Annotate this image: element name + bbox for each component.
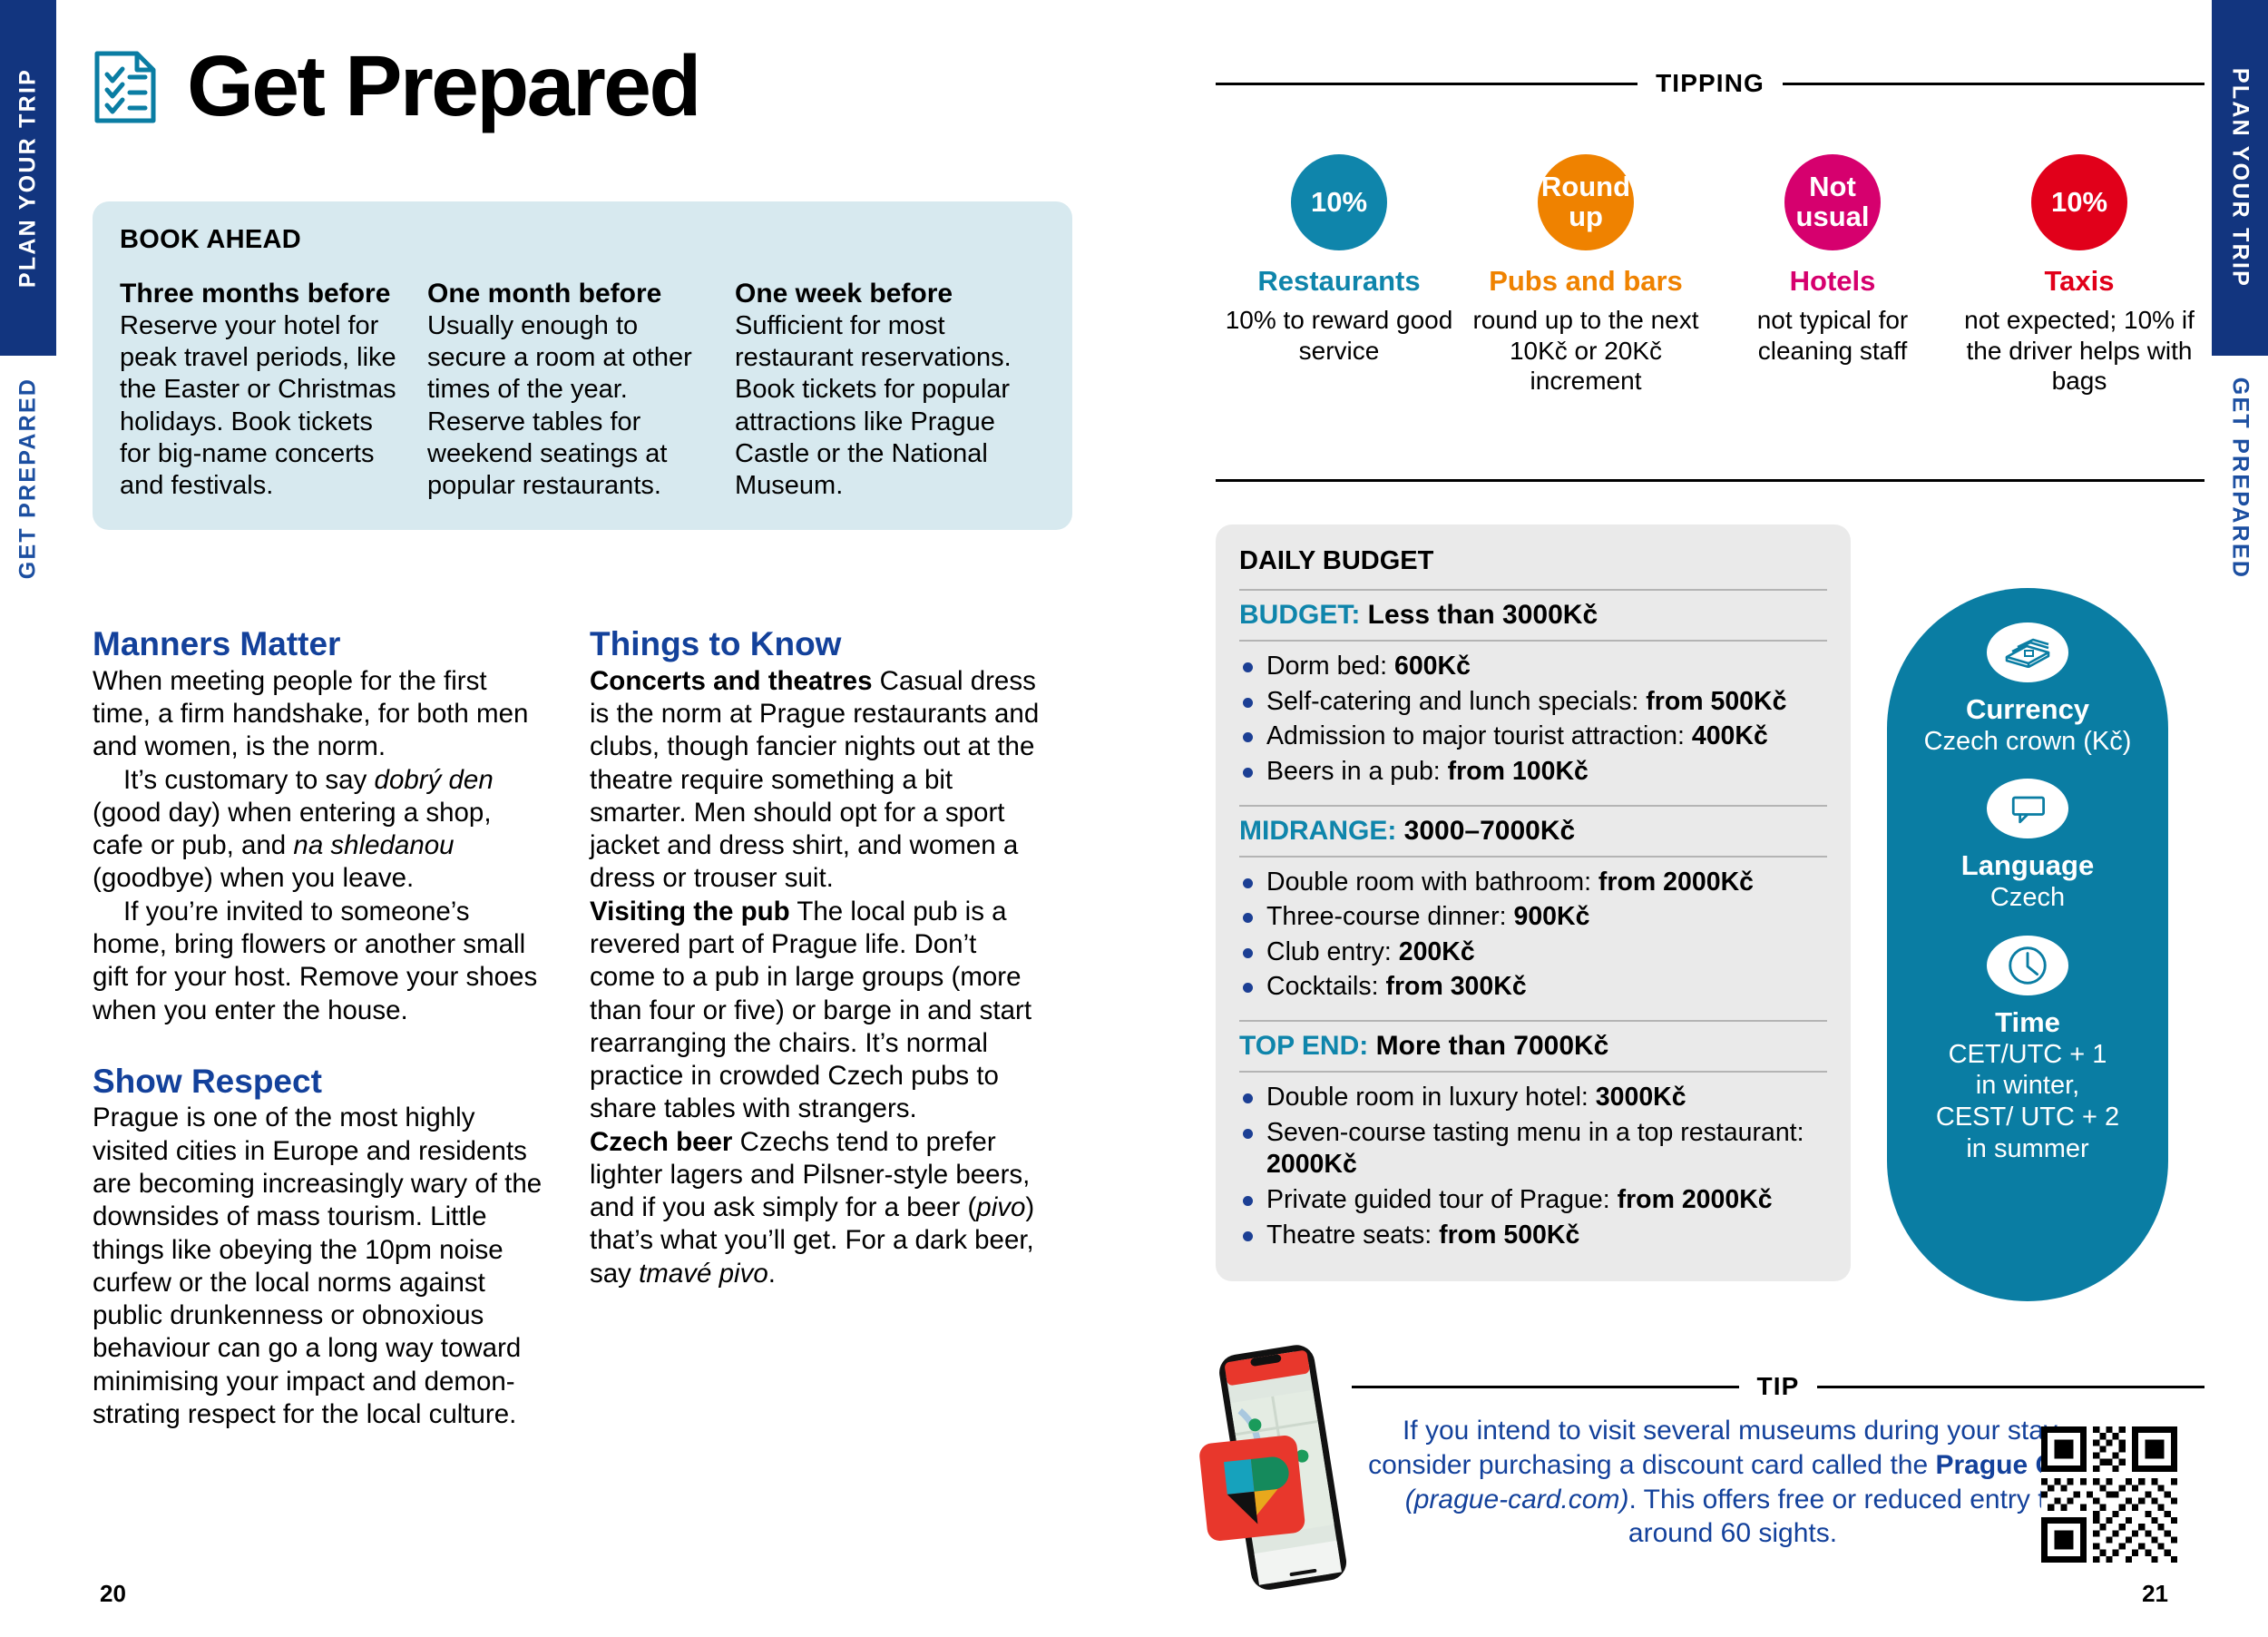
info-heading-time: Time — [1887, 1006, 2168, 1039]
budget-list-item: Cocktails: from 300Kč — [1239, 971, 1827, 1004]
book-ahead-column-body: Usually enough to secure a room at other… — [427, 310, 704, 503]
book-ahead-heading: BOOK AHEAD — [120, 225, 1045, 255]
page-number-left: 20 — [100, 1580, 126, 1608]
rule-line-left — [1352, 1386, 1739, 1388]
tipping-item-pubs-and-bars: Round up Pubs and bars round up to the n… — [1462, 154, 1709, 397]
divider — [1239, 805, 1827, 807]
qr-code[interactable] — [2041, 1426, 2177, 1563]
book-ahead-column: One week before Sufficient for most rest… — [735, 279, 1012, 503]
tab-get-prepared-right-label: GET PREPARED — [2227, 377, 2253, 579]
tipping-item-name: Hotels — [1709, 265, 1956, 298]
speech-bubble-icon — [1987, 779, 2068, 838]
divider — [1239, 1071, 1827, 1073]
respect-paragraph: Prague is one of the most highly visited… — [93, 1102, 546, 1431]
divider — [1239, 589, 1827, 591]
tipping-item-name: Taxis — [1956, 265, 2203, 298]
column-things-to-know: Things to Know Concerts and theatres Cas… — [590, 626, 1043, 1431]
book-ahead-box: BOOK AHEAD Three months before Reserve y… — [93, 201, 1072, 530]
tab-plan-your-trip-left[interactable]: PLAN YOUR TRIP — [0, 0, 56, 356]
right-page: TIPPING 10% Restaurants 10% to reward go… — [1134, 0, 2212, 1637]
divider — [1239, 1020, 1827, 1022]
budget-list-item: Three-course dinner: 900Kč — [1239, 901, 1827, 934]
tipping-item-restaurants: 10% Restaurants 10% to reward good servi… — [1216, 154, 1462, 397]
daily-budget-heading: DAILY BUDGET — [1239, 546, 1827, 576]
info-heading-language: Language — [1887, 849, 2168, 882]
country-info-pill: Currency Czech crown (Kč) Language Czech… — [1887, 588, 2168, 1301]
info-value-language: Czech — [1887, 882, 2168, 914]
tipping-item-desc: not typical for cleaning staff — [1709, 305, 1956, 366]
tipping-section-header: TIPPING — [1216, 69, 2204, 98]
tab-get-prepared-right[interactable]: GET PREPARED — [2212, 356, 2268, 601]
tipping-item-desc: 10% to reward good service — [1216, 305, 1462, 366]
budget-list-item: Theatre seats: from 500Kč — [1239, 1220, 1827, 1252]
column-manners: Manners Matter When meeting people for t… — [93, 626, 546, 1431]
book-ahead-column: One month before Usually enough to secur… — [427, 279, 704, 503]
things-to-know-item: Concerts and theatres Casual dress is th… — [590, 665, 1043, 896]
book-ahead-column-heading: Three months before — [120, 279, 396, 310]
manners-paragraph-2: It’s customary to say dobrý den (good da… — [93, 764, 546, 896]
budget-tier-list: Double room in luxury hotel: 3000Kč Seve… — [1239, 1082, 1827, 1251]
tipping-item-name: Restaurants — [1216, 265, 1462, 298]
left-page: Get Prepared BOOK AHEAD Three months bef… — [56, 0, 1134, 1637]
info-heading-currency: Currency — [1887, 693, 2168, 726]
tip-section-label: TIP — [1739, 1372, 1818, 1401]
tab-plan-your-trip-right[interactable]: PLAN YOUR TRIP — [2212, 0, 2268, 356]
tipping-section-divider — [1216, 479, 2204, 482]
rule-line-left — [1216, 83, 1637, 85]
divider — [1239, 640, 1827, 642]
page-header: Get Prepared — [93, 44, 699, 130]
budget-list-item: Double room in luxury hotel: 3000Kč — [1239, 1082, 1827, 1114]
clock-icon — [1987, 936, 2068, 995]
article-body: Manners Matter When meeting people for t… — [93, 626, 1081, 1431]
book-ahead-column-body: Sufficient for most restaurant reservati… — [735, 310, 1012, 503]
tipping-item-name: Pubs and bars — [1462, 265, 1709, 298]
budget-list-item: Double room with bathroom: from 2000Kč — [1239, 867, 1827, 899]
info-value-time: CET/UTC + 1 in winter, CEST/ UTC + 2 in … — [1887, 1039, 2168, 1165]
tab-get-prepared-left-label: GET PREPARED — [15, 377, 42, 579]
budget-tier-heading: BUDGET: Less than 3000Kč — [1239, 600, 1827, 631]
book-ahead-column-heading: One month before — [427, 279, 704, 310]
page-number-right: 21 — [2142, 1580, 2168, 1608]
book-ahead-column: Three months before Reserve your hotel f… — [120, 279, 396, 503]
things-to-know-item: Visiting the pub The local pub is a reve… — [590, 896, 1043, 1126]
book-ahead-column-heading: One week before — [735, 279, 1012, 310]
checklist-document-icon — [93, 49, 158, 125]
section-heading-manners: Manners Matter — [93, 626, 546, 663]
tipping-badge: 10% — [1291, 154, 1387, 250]
tab-plan-your-trip-left-label: PLAN YOUR TRIP — [15, 68, 42, 288]
budget-tier-list: Double room with bathroom: from 2000Kč T… — [1239, 867, 1827, 1005]
daily-budget-box: DAILY BUDGET BUDGET: Less than 3000Kč Do… — [1216, 524, 1851, 1281]
tipping-section-label: TIPPING — [1637, 69, 1783, 98]
section-heading-things-to-know: Things to Know — [590, 626, 1043, 663]
budget-list-item: Dorm bed: 600Kč — [1239, 651, 1827, 683]
budget-list-item: Seven-course tasting menu in a top resta… — [1239, 1117, 1827, 1181]
guidebook-spread: PLAN YOUR TRIP GET PREPARED PLAN YOUR TR… — [0, 0, 2268, 1637]
manners-paragraph-3: If you’re invited to someone’s home, bri… — [93, 896, 546, 1027]
rule-line-right — [1817, 1386, 2204, 1388]
tipping-item-hotels: Not usual Hotels not typical for cleanin… — [1709, 154, 1956, 397]
tipping-item-desc: round up to the next 10Kč or 20Kč increm… — [1462, 305, 1709, 397]
book-ahead-column-body: Reserve your hotel for peak travel perio… — [120, 310, 396, 503]
info-value-currency: Czech crown (Kč) — [1887, 726, 2168, 758]
budget-list-item: Admission to major tourist attraction: 4… — [1239, 720, 1827, 753]
tip-text: If you intend to visit several museums d… — [1361, 1414, 2105, 1551]
tip-section-header: TIP — [1352, 1372, 2204, 1401]
budget-list-item: Self-catering and lunch specials: from 5… — [1239, 686, 1827, 719]
tipping-badge: Not usual — [1784, 154, 1881, 250]
tipping-badge: 10% — [2031, 154, 2127, 250]
phone-app-illustration — [1198, 1341, 1370, 1604]
tipping-item-desc: not expected; 10% if the driver helps wi… — [1956, 305, 2203, 397]
things-to-know-item-beer: Czech beer Czechs tend to prefer lighter… — [590, 1126, 1043, 1290]
manners-paragraph-1: When meeting people for the first time, … — [93, 665, 546, 764]
page-title: Get Prepared — [187, 44, 699, 130]
tipping-item-taxis: 10% Taxis not expected; 10% if the drive… — [1956, 154, 2203, 397]
budget-list-item: Private guided tour of Prague: from 2000… — [1239, 1184, 1827, 1217]
tab-plan-your-trip-right-label: PLAN YOUR TRIP — [2227, 68, 2253, 288]
banknotes-icon — [1987, 622, 2068, 682]
tipping-badge: Round up — [1538, 154, 1634, 250]
budget-list-item: Beers in a pub: from 100Kč — [1239, 756, 1827, 789]
budget-tier-heading: TOP END: More than 7000Kč — [1239, 1031, 1827, 1062]
divider — [1239, 856, 1827, 858]
tab-get-prepared-left[interactable]: GET PREPARED — [0, 356, 56, 601]
tipping-grid: 10% Restaurants 10% to reward good servi… — [1216, 154, 2204, 397]
budget-tier-list: Dorm bed: 600Kč Self-catering and lunch … — [1239, 651, 1827, 789]
section-heading-show-respect: Show Respect — [93, 1064, 546, 1101]
budget-list-item: Club entry: 200Kč — [1239, 936, 1827, 969]
budget-tier-heading: MIDRANGE: 3000–7000Kč — [1239, 816, 1827, 847]
rule-line-right — [1783, 83, 2204, 85]
